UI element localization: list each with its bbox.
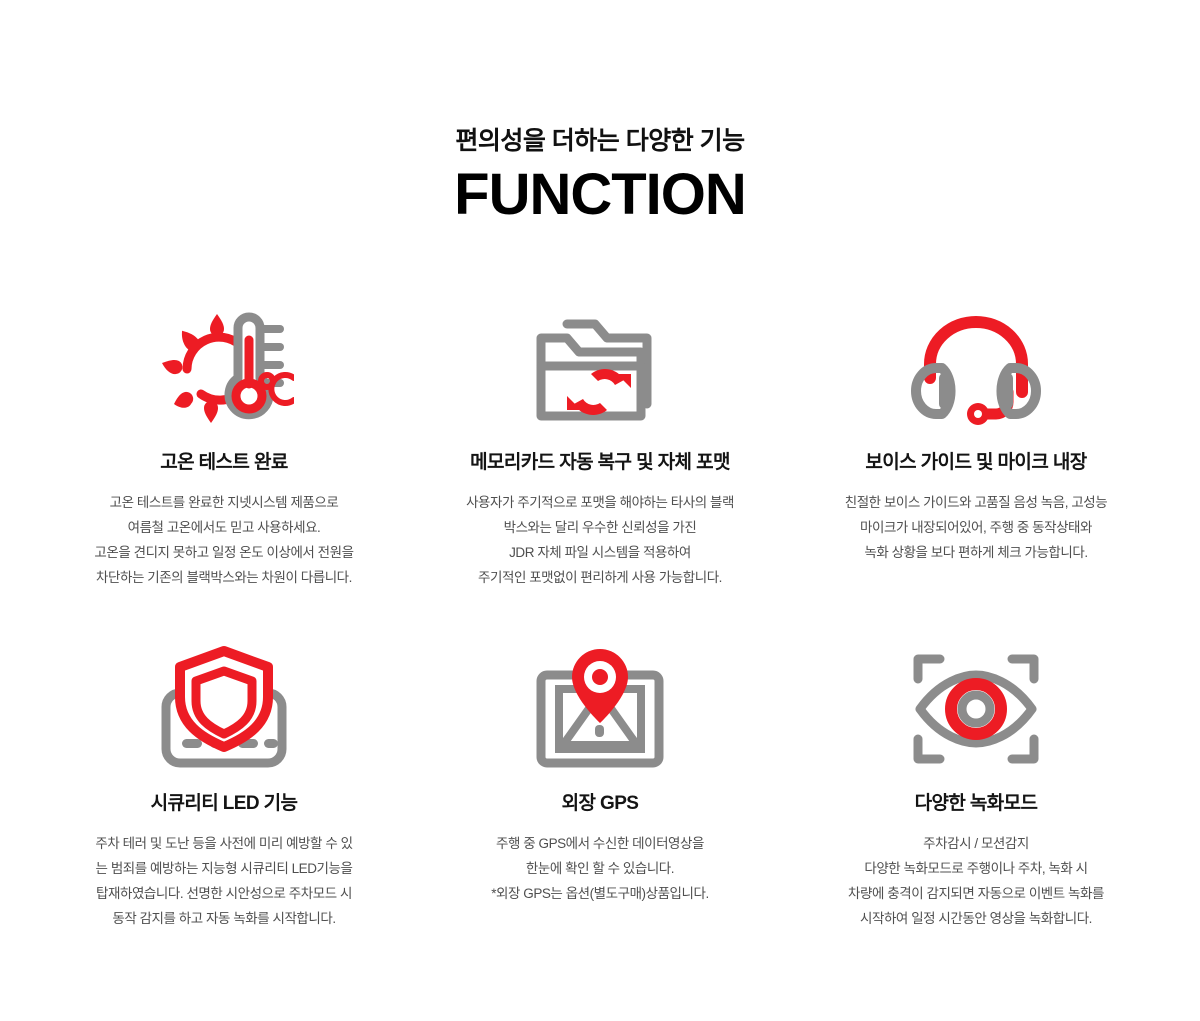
headset-mic-icon [901,302,1051,432]
feature-description: 주행 중 GPS에서 수신한 데이터영상을 한눈에 확인 할 수 있습니다. *… [430,832,770,907]
feature-grid: 고온 테스트 완료 고온 테스트를 완료한 지넷시스템 제품으로 여름철 고온에… [36,226,1164,931]
page-title: FUNCTION [0,165,1200,226]
feature-title: 다양한 녹화모드 [915,793,1038,816]
feature-description: 주차감시 / 모션감지 다양한 녹화모드로 주행이나 주차, 녹화 시 차량에 … [803,832,1149,932]
map-pin-icon [525,643,675,773]
feature-title: 메모리카드 자동 복구 및 자체 포맷 [470,452,730,475]
section-header: 편의성을 더하는 다양한 기능 FUNCTION [0,0,1200,226]
folder-sync-icon [525,302,675,432]
feature-title: 외장 GPS [562,793,639,816]
function-section: 편의성을 더하는 다양한 기능 FUNCTION [0,0,1200,1021]
feature-title: 보이스 가이드 및 마이크 내장 [865,452,1086,475]
sun-thermometer-icon [149,302,299,432]
feature-card-high-temp: 고온 테스트 완료 고온 테스트를 완료한 지넷시스템 제품으로 여름철 고온에… [36,302,412,591]
feature-card-voice-guide: 보이스 가이드 및 마이크 내장 친절한 보이스 가이드와 고품질 음성 녹음,… [788,302,1164,591]
feature-title: 고온 테스트 완료 [160,452,288,475]
feature-card-external-gps: 외장 GPS 주행 중 GPS에서 수신한 데이터영상을 한눈에 확인 할 수 … [412,643,788,932]
section-subtitle: 편의성을 더하는 다양한 기능 [0,126,1200,157]
shield-led-icon [149,643,299,773]
eye-focus-icon [901,643,1051,773]
feature-description: 주차 테러 및 도난 등을 사전에 미리 예방할 수 있 는 범죄를 예방하는 … [51,832,397,932]
feature-card-recording-modes: 다양한 녹화모드 주차감시 / 모션감지 다양한 녹화모드로 주행이나 주차, … [788,643,1164,932]
feature-description: 고온 테스트를 완료한 지넷시스템 제품으로 여름철 고온에서도 믿고 사용하세… [59,491,389,591]
feature-card-memory-format: 메모리카드 자동 복구 및 자체 포맷 사용자가 주기적으로 포맷을 해야하는 … [412,302,788,591]
feature-description: 사용자가 주기적으로 포맷을 해야하는 타사의 블랙 박스와는 달리 우수한 신… [430,491,770,591]
feature-title: 시큐리티 LED 기능 [151,793,298,816]
feature-description: 친절한 보이스 가이드와 고품질 음성 녹음, 고성능 마이크가 내장되어있어,… [806,491,1146,566]
feature-card-security-led: 시큐리티 LED 기능 주차 테러 및 도난 등을 사전에 미리 예방할 수 있… [36,643,412,932]
